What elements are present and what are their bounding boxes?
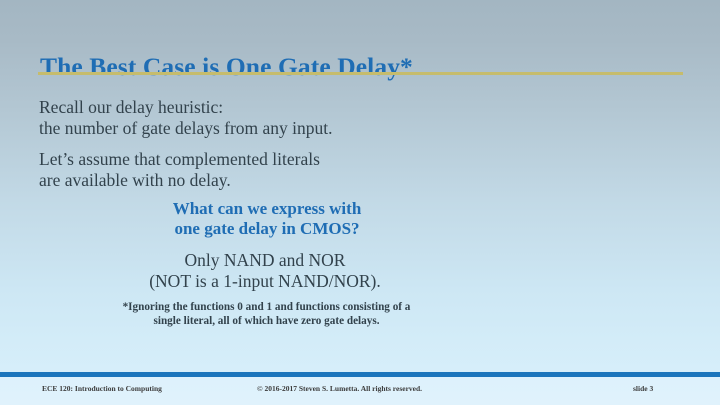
title-divider-rule bbox=[38, 72, 683, 75]
footnote-text: *Ignoring the functions 0 and 1 and func… bbox=[39, 300, 494, 328]
answer-text: Only NAND and NOR(NOT is a 1-input NAND/… bbox=[39, 250, 491, 291]
footer-copyright-label: © 2016-2017 Steven S. Lumetta. All right… bbox=[257, 383, 422, 395]
body-paragraph-1: Recall our delay heuristic:the number of… bbox=[39, 97, 679, 138]
slide-title: The Best Case is One Gate Delay* bbox=[40, 52, 690, 82]
footer-slide-number: slide 3 bbox=[633, 383, 653, 395]
slide-canvas: The Best Case is One Gate Delay* Recall … bbox=[0, 0, 720, 405]
footer-accent-bar bbox=[0, 372, 720, 377]
body-paragraph-2: Let’s assume that complemented literalsa… bbox=[39, 149, 679, 190]
footer-course-label: ECE 120: Introduction to Computing bbox=[42, 383, 162, 395]
slide-body: Recall our delay heuristic:the number of… bbox=[39, 97, 679, 190]
highlighted-question: What can we express withone gate delay i… bbox=[39, 199, 495, 238]
slide-footer: ECE 120: Introduction to Computing © 201… bbox=[0, 383, 720, 397]
